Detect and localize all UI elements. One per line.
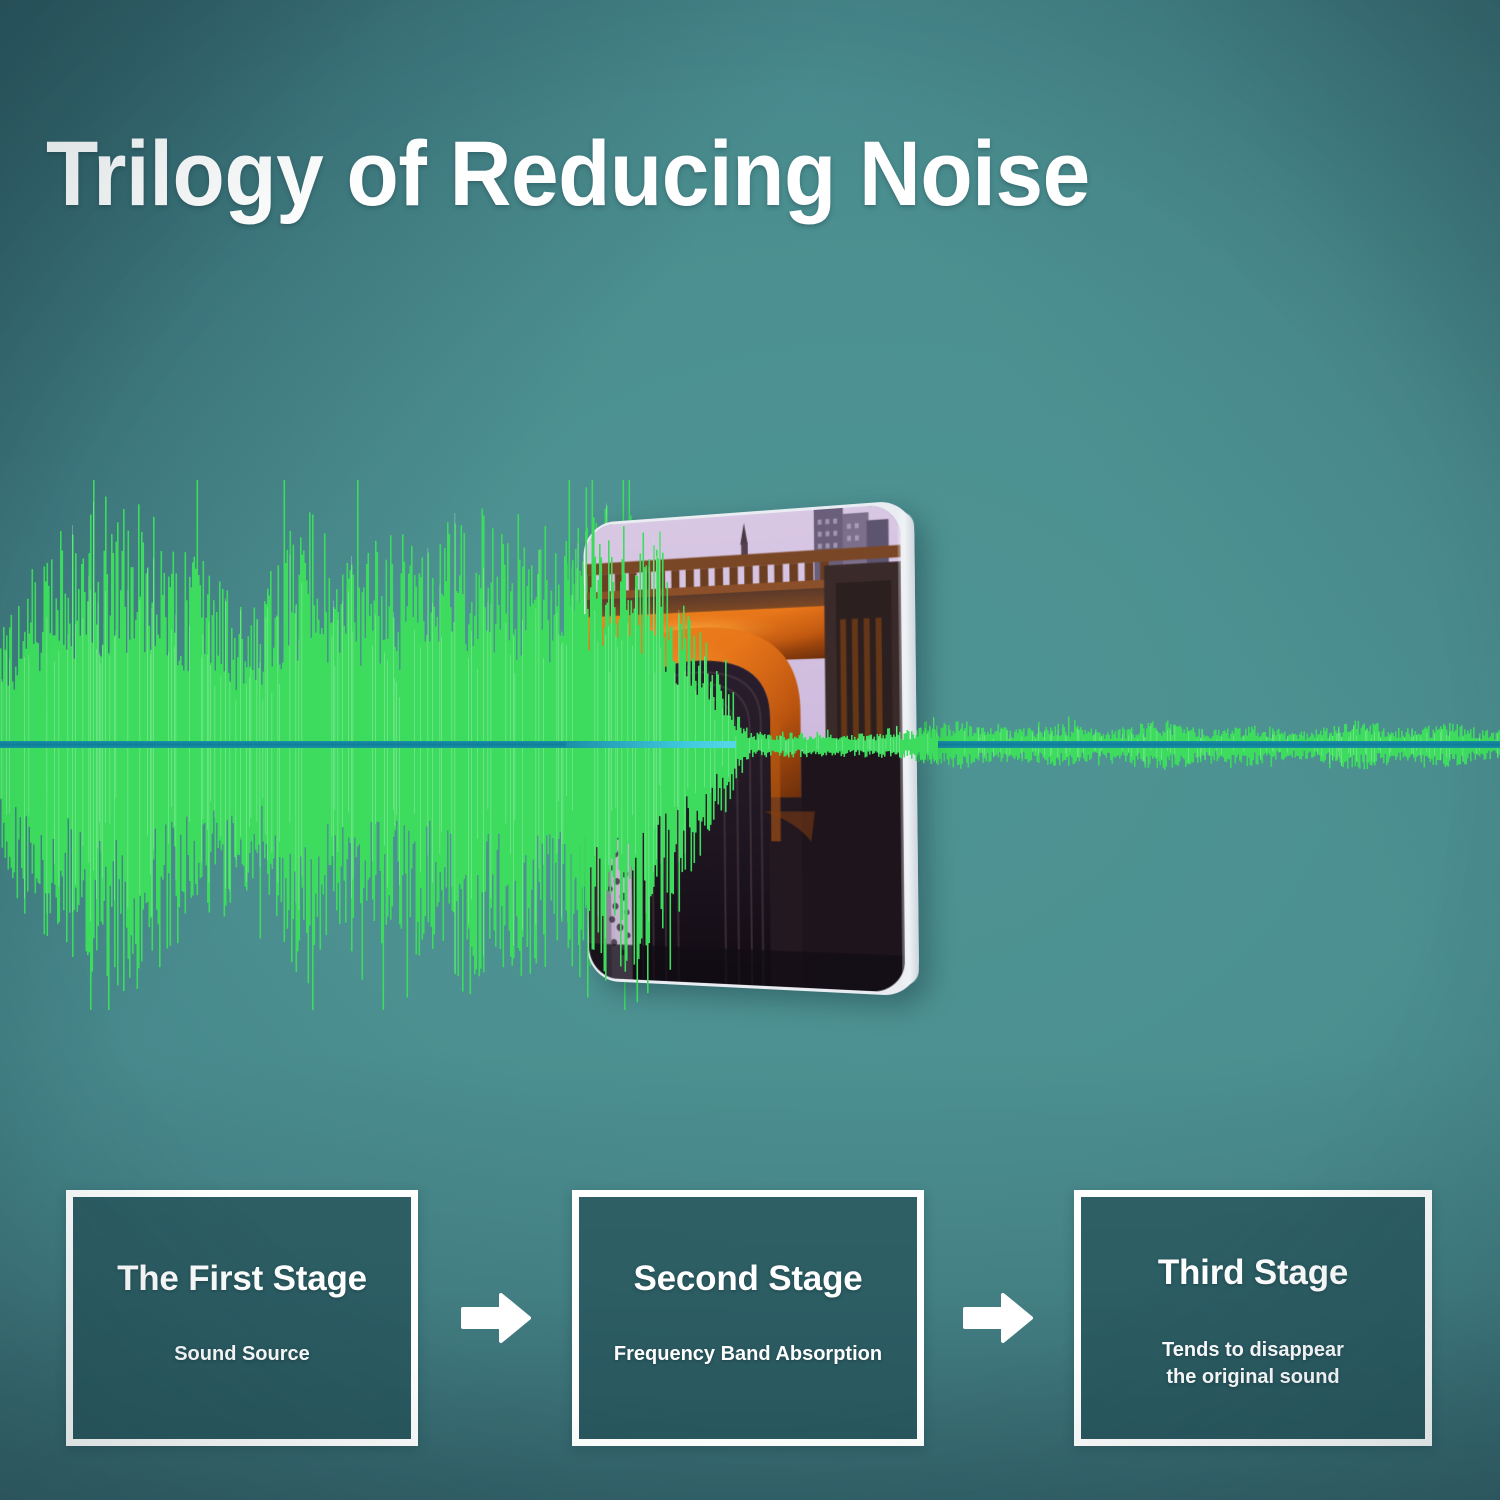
stage-box-second[interactable]: Second Stage Frequency Band Absorption bbox=[572, 1190, 924, 1446]
poster-canvas: Trilogy of Reducing Noise bbox=[0, 0, 1500, 1500]
stage-title: The First Stage bbox=[117, 1259, 367, 1299]
stage-subtitle-line1: Sound Source bbox=[174, 1341, 310, 1368]
arrow-right-icon bbox=[963, 1292, 1033, 1344]
stage-subtitle-line1: Frequency Band Absorption bbox=[614, 1341, 882, 1368]
stage-subtitle-line1: Tends to disappear bbox=[1162, 1337, 1344, 1364]
stage-box-first[interactable]: The First Stage Sound Source bbox=[66, 1190, 418, 1446]
photo-frame bbox=[583, 500, 919, 997]
flow-arrow-icon bbox=[461, 1292, 531, 1344]
stage-box-third[interactable]: Third Stage Tends to disappear the origi… bbox=[1074, 1190, 1432, 1446]
bridge-arch-photo bbox=[585, 504, 905, 993]
bridge-photo-panel bbox=[566, 498, 938, 1008]
stage-title: Second Stage bbox=[633, 1259, 862, 1299]
bridge-arch-image bbox=[585, 504, 905, 993]
stage-subtitle: Frequency Band Absorption bbox=[614, 1341, 882, 1368]
flow-arrow-icon bbox=[963, 1292, 1033, 1344]
page-title: Trilogy of Reducing Noise bbox=[46, 126, 1090, 223]
stage-subtitle: Sound Source bbox=[174, 1341, 310, 1368]
stage-subtitle-line2: the original sound bbox=[1162, 1364, 1344, 1391]
stage-title: Third Stage bbox=[1158, 1253, 1348, 1293]
stage-subtitle: Tends to disappear the original sound bbox=[1162, 1337, 1344, 1391]
arrow-right-icon bbox=[461, 1292, 531, 1344]
panel-3d-edge bbox=[897, 510, 919, 986]
waveform-centerline-highlight bbox=[566, 741, 736, 748]
